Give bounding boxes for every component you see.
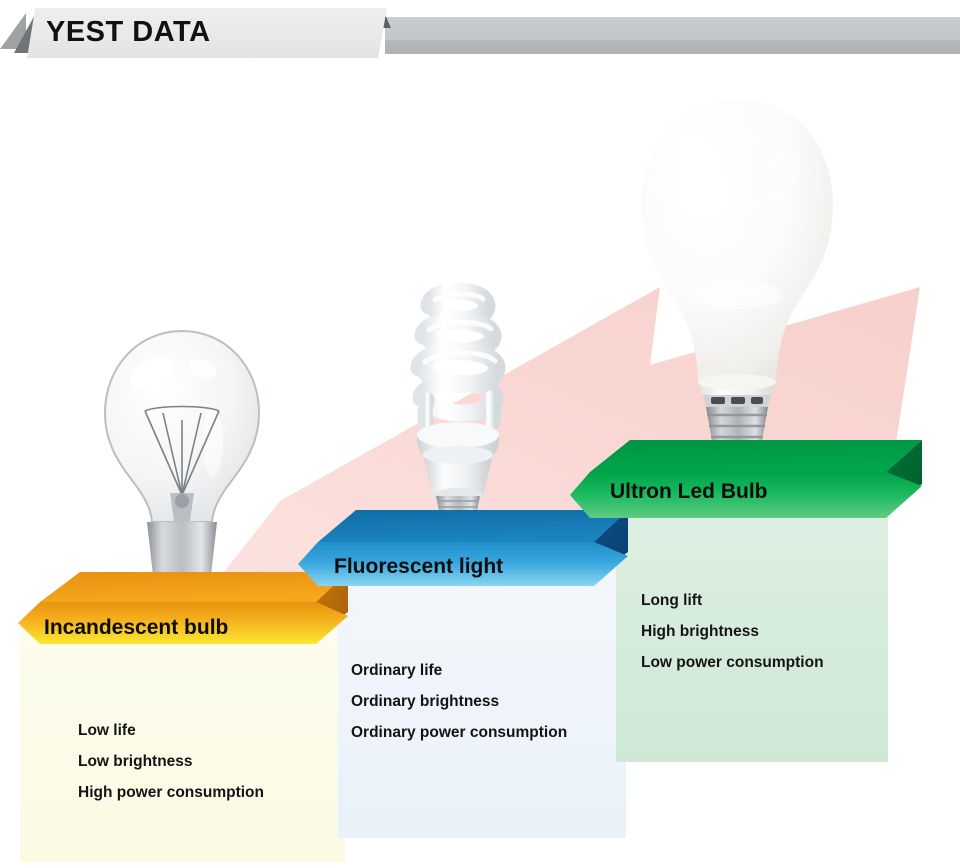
incandescent-bulb-icon [95, 325, 270, 595]
list-item: High brightness [641, 616, 824, 647]
header-banner: YEST DATA [0, 0, 960, 72]
led-bulb-icon [635, 95, 840, 480]
feature-list-incandescent: Low life Low brightness High power consu… [78, 715, 264, 808]
feature-list-led: Long lift High brightness Low power cons… [641, 585, 824, 678]
list-item: Long lift [641, 585, 824, 616]
banner-label-fluorescent: Fluorescent light [334, 555, 503, 579]
list-item: Ordinary power consumption [351, 717, 567, 748]
panel-led: Long lift High brightness Low power cons… [616, 500, 888, 762]
page-title: YEST DATA [46, 12, 211, 52]
list-item: Low life [78, 715, 264, 746]
feature-list-fluorescent: Ordinary life Ordinary brightness Ordina… [351, 655, 567, 748]
banner-label-led: Ultron Led Bulb [610, 480, 767, 504]
list-item: Ordinary life [351, 655, 567, 686]
list-item: Low brightness [78, 746, 264, 777]
header-accent-bar [385, 17, 960, 54]
banner-led: Ultron Led Bulb [570, 440, 922, 536]
infographic-canvas: YEST DATA Low life Low brightness High p… [0, 0, 960, 868]
list-item: High power consumption [78, 777, 264, 808]
list-item: Low power consumption [641, 647, 824, 678]
list-item: Ordinary brightness [351, 686, 567, 717]
cfl-spiral-bulb-icon [383, 272, 533, 530]
banner-label-incandescent: Incandescent bulb [44, 616, 228, 640]
